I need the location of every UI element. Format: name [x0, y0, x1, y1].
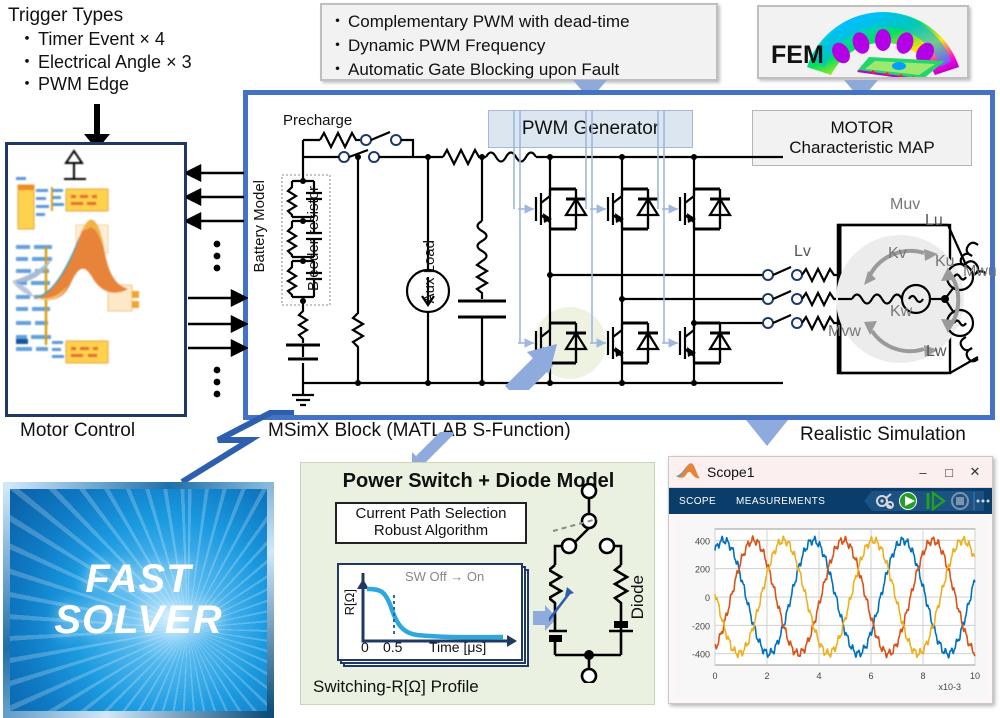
trigger-types: Trigger Types Timer Event × 4 Electrical… [8, 4, 192, 96]
algorithm-box: Current Path Selection Robust Algorithm [335, 502, 527, 544]
r-profile-xlabel: Time [μs] [429, 639, 486, 655]
motor-label-lw: Lw [926, 343, 946, 361]
toolbar-icons [864, 489, 992, 513]
fast-solver-line2: SOLVER [54, 600, 222, 641]
power-circuit-schematic: .w{stroke:#000;stroke-width:2.2;fill:non… [248, 95, 990, 415]
pwm-features-callout: Complementary PWM with dead-time Dynamic… [320, 3, 718, 81]
scope-title: Scope1 [707, 464, 754, 480]
tab-scope[interactable]: SCOPE [669, 496, 726, 507]
svg-text:4: 4 [816, 671, 821, 681]
r-profile-xtick-05: 0.5 [383, 639, 402, 655]
scope-window: Scope1 – □ ✕ SCOPE MEASUREMENTS [668, 456, 993, 704]
switching-r-profile-chart: R[Ω] SW Off → On 0 0.5 Time [μs] [337, 563, 527, 663]
battery-model-label: Battery Model [251, 180, 268, 273]
tab-measurements[interactable]: MEASUREMENTS [726, 496, 835, 507]
minimize-icon[interactable]: – [910, 465, 936, 480]
motor-label-lu: Lu [925, 212, 943, 230]
r-profile-ylabel: R[Ω] [342, 589, 357, 615]
precharge-label: Precharge [283, 112, 352, 129]
svg-text:10: 10 [970, 671, 980, 681]
pwm-features-list: Complementary PWM with dead-time Dynamic… [329, 10, 716, 82]
trigger-item: Electrical Angle × 3 [18, 51, 192, 74]
aux-load-label: Aux Load [421, 240, 438, 303]
svg-text:400: 400 [695, 536, 710, 546]
three-phase-waveform-plot: -400-20002004000246810x10-3 [675, 519, 988, 697]
pwm-feature-item: Automatic Gate Blocking upon Fault [329, 58, 716, 82]
power-switch-panel: Power Switch + Diode Model Current Path … [300, 462, 655, 705]
arrow-to-scope [746, 420, 788, 448]
algorithm-line1: Current Path Selection [356, 506, 507, 523]
run-icon [899, 492, 917, 510]
motor-label-kw: Kw [890, 303, 912, 321]
svg-text:-200: -200 [692, 621, 710, 631]
motor-control-panel [5, 142, 187, 417]
signal-arrows [186, 148, 248, 414]
fast-solver-line1: FAST [54, 559, 222, 600]
svg-text:2: 2 [764, 671, 769, 681]
trigger-types-list: Timer Event × 4 Electrical Angle × 3 PWM… [8, 28, 192, 96]
motor-label-ku: Ku [935, 253, 955, 271]
svg-text:x10-3: x10-3 [938, 682, 961, 692]
svg-text:0: 0 [705, 593, 710, 603]
motor-label-mwu: Mwu [963, 263, 997, 281]
trigger-types-title: Trigger Types [8, 4, 192, 28]
motor-label-kv: Kv [888, 245, 907, 263]
profile-caption: Switching-R[Ω] Profile [313, 677, 479, 697]
svg-text:200: 200 [695, 565, 710, 575]
motor-control-caption: Motor Control [20, 420, 135, 442]
simulink-model-thumbnail [8, 145, 186, 416]
algorithm-line2: Robust Algorithm [374, 523, 488, 540]
fast-solver-badge: FAST SOLVER [3, 482, 274, 718]
motor-label-muv: Muv [890, 196, 920, 214]
scope-plot-area: -400-20002004000246810x10-3 [675, 519, 988, 697]
trigger-item: Timer Event × 4 [18, 28, 192, 51]
realistic-simulation-caption: Realistic Simulation [800, 424, 966, 446]
diode-label: Diode [628, 575, 648, 619]
matlab-icon [675, 462, 701, 482]
scope-titlebar: Scope1 – □ ✕ [669, 457, 992, 488]
svg-text:8: 8 [920, 671, 925, 681]
fast-solver-text: FAST SOLVER [54, 559, 222, 641]
svg-text:0: 0 [712, 671, 717, 681]
fem-callout: FEM [757, 5, 969, 79]
switch-diode-schematic: .k{stroke:#000;stroke-width:2.6;fill:non… [549, 483, 639, 683]
motor-label-lv: Lv [794, 243, 811, 261]
pwm-feature-item: Dynamic PWM Frequency [329, 34, 716, 58]
overflow-icon [977, 500, 990, 503]
close-icon[interactable]: ✕ [962, 464, 988, 480]
trigger-item: PWM Edge [18, 73, 192, 96]
svg-text:-400: -400 [692, 650, 710, 660]
bleeder-resistor-label: Bleeder resistor [305, 186, 322, 291]
pwm-feature-item: Complementary PWM with dead-time [329, 10, 716, 34]
fem-label: FEM [771, 41, 824, 70]
scope-toolbar: SCOPE MEASUREMENTS [669, 488, 992, 514]
svg-text:6: 6 [868, 671, 873, 681]
r-profile-xtick-0: 0 [361, 639, 369, 655]
lightning-connector [160, 410, 300, 485]
motor-label-mvw: Mvw [828, 323, 861, 341]
r-profile-annotation: SW Off → On [405, 569, 484, 584]
maximize-icon[interactable]: □ [936, 465, 962, 480]
highlight-arrow-to-igbt [505, 300, 575, 390]
